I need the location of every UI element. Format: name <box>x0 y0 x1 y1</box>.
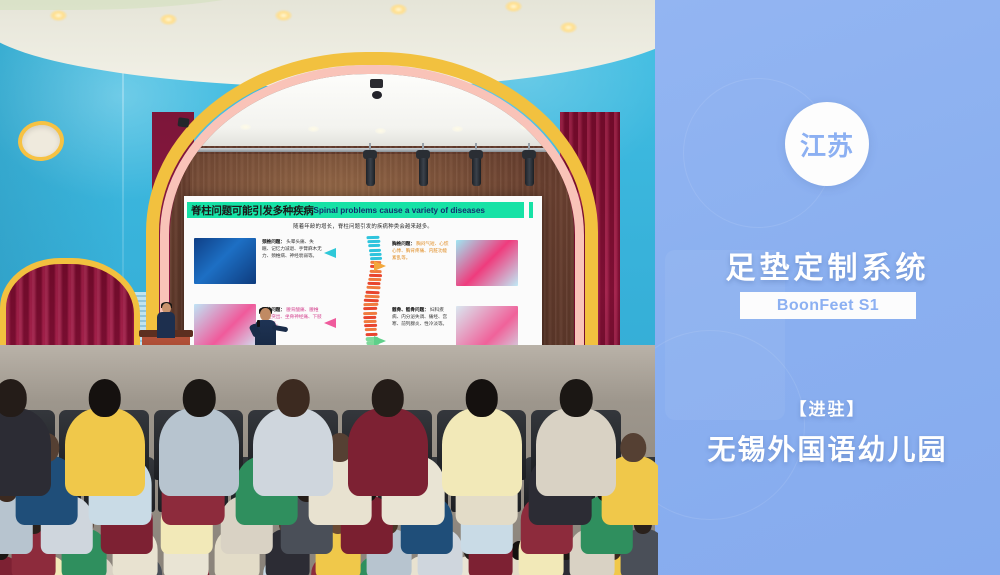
audience-member <box>10 379 11 380</box>
soffit-light-0 <box>240 124 251 130</box>
host-body <box>157 312 175 338</box>
audience-head <box>466 379 499 417</box>
vertebra-9 <box>369 274 382 278</box>
spotlight-body <box>419 158 428 186</box>
audience-member <box>576 379 577 380</box>
slide-text-thoracic: 胸椎问题： 胸闷气短、心慌心悸、胸背疼痛、内脏功能紊乱等。 <box>392 240 450 261</box>
audience-head <box>621 433 646 462</box>
vertebra-12 <box>366 286 380 290</box>
enter-tag: 【进驻】 <box>655 395 1000 420</box>
slide-title-cn: 脊柱问题可能引发多种疾病 <box>191 203 313 218</box>
slide-text-pelvis: 髋骨、骶骨问题： 妇科疾病、内分泌失调、痛经、宫寒、前列腺炎、性冷淡等。 <box>392 306 450 327</box>
host-figure <box>157 303 175 337</box>
audience-member <box>633 433 634 434</box>
downlight-1 <box>160 14 177 25</box>
projector-icon <box>370 79 383 88</box>
audience-head <box>0 379 27 417</box>
region-badge: 江苏 <box>785 102 869 186</box>
audience-body <box>0 408 51 496</box>
audience-body <box>159 408 239 496</box>
downlight-3 <box>390 4 407 15</box>
audience-member <box>481 379 482 380</box>
audience-member <box>199 379 200 380</box>
vertebra-19 <box>363 316 376 320</box>
microphone-icon <box>257 320 260 327</box>
venue-name: 无锡外国语幼儿园 <box>655 428 1000 468</box>
security-camera-icon <box>177 117 189 127</box>
spotlight-1 <box>415 150 431 190</box>
slide-heading-cervical: 颈椎问题： <box>262 239 285 244</box>
audience-head <box>371 379 404 417</box>
audience-member <box>104 379 105 380</box>
audience-area <box>0 345 658 575</box>
vertebra-2 <box>368 244 380 247</box>
product-title: 足垫定制系统 <box>655 243 1000 287</box>
slide-text-cervical: 颈椎问题： 头晕头痛、失眠、记忆力减退、手臂麻木无力、颈椎病、神经衰弱等。 <box>262 238 322 259</box>
soffit-light-2 <box>375 128 386 134</box>
slide-arrow-thoracic <box>374 261 386 271</box>
audience-body <box>253 408 333 496</box>
vertebra-22 <box>365 328 377 332</box>
slide-heading-thoracic: 胸椎问题： <box>392 241 415 246</box>
auditorium-photo: 脊柱问题可能引发多种疾病 Spinal problems cause a var… <box>0 0 658 575</box>
spotlight-body <box>472 158 481 186</box>
audience-head <box>277 379 310 417</box>
vertebra-4 <box>370 253 382 256</box>
slide-image-lumbar <box>194 304 256 350</box>
downlight-0 <box>50 10 67 21</box>
projector-lens-icon <box>372 91 382 99</box>
audience-head <box>183 379 216 417</box>
soffit-light-4 <box>520 124 531 130</box>
audience-body <box>536 408 616 496</box>
audience-body <box>348 408 428 496</box>
downlight-5 <box>560 22 577 33</box>
vertebra-0 <box>366 236 379 239</box>
poster-root: 脊柱问题可能引发多种疾病 Spinal problems cause a var… <box>0 0 1000 575</box>
slide-image-cervical <box>194 238 256 284</box>
audience-body <box>65 408 145 496</box>
audience-member <box>387 379 388 380</box>
slide-subtitle: 随着年龄的增长，脊柱问题引发的疾病种类会越来越多。 <box>184 222 542 230</box>
slide-title-bar: 脊柱问题可能引发多种疾病 Spinal problems cause a var… <box>187 202 524 218</box>
product-model-label: BoonFeet S1 <box>777 297 879 315</box>
vertebra-5 <box>370 257 382 260</box>
spotlight-0 <box>362 150 378 190</box>
audience-head <box>560 379 593 417</box>
slide-arrow-cervical <box>324 248 336 258</box>
slide-image-thoracic <box>456 240 518 286</box>
vertebra-3 <box>369 248 381 251</box>
slide-title-en: Spinal problems cause a variety of disea… <box>313 206 485 215</box>
spotlight-2 <box>468 150 484 190</box>
slide-title-tick <box>529 202 533 218</box>
region-badge-label: 江苏 <box>800 126 854 163</box>
vertebra-17 <box>363 307 377 311</box>
product-model-chip: BoonFeet S1 <box>740 292 916 319</box>
slide-arrow-lumbar <box>324 318 336 328</box>
downlight-4 <box>505 1 522 12</box>
audience-head <box>89 379 122 417</box>
audience-member <box>293 379 294 380</box>
soffit-light-3 <box>452 126 463 132</box>
info-panel <box>655 0 1000 575</box>
audience-body <box>442 408 522 496</box>
audience-member <box>339 433 340 434</box>
vertebra-18 <box>363 311 377 315</box>
soffit-light-1 <box>308 126 319 132</box>
vertebra-13 <box>366 290 380 294</box>
downlight-2 <box>275 10 292 21</box>
spotlight-body <box>525 158 534 186</box>
slide-heading-pelvis: 髋骨、骶骨问题： <box>392 307 429 312</box>
spotlight-body <box>366 158 375 186</box>
spotlight-3 <box>521 150 537 190</box>
